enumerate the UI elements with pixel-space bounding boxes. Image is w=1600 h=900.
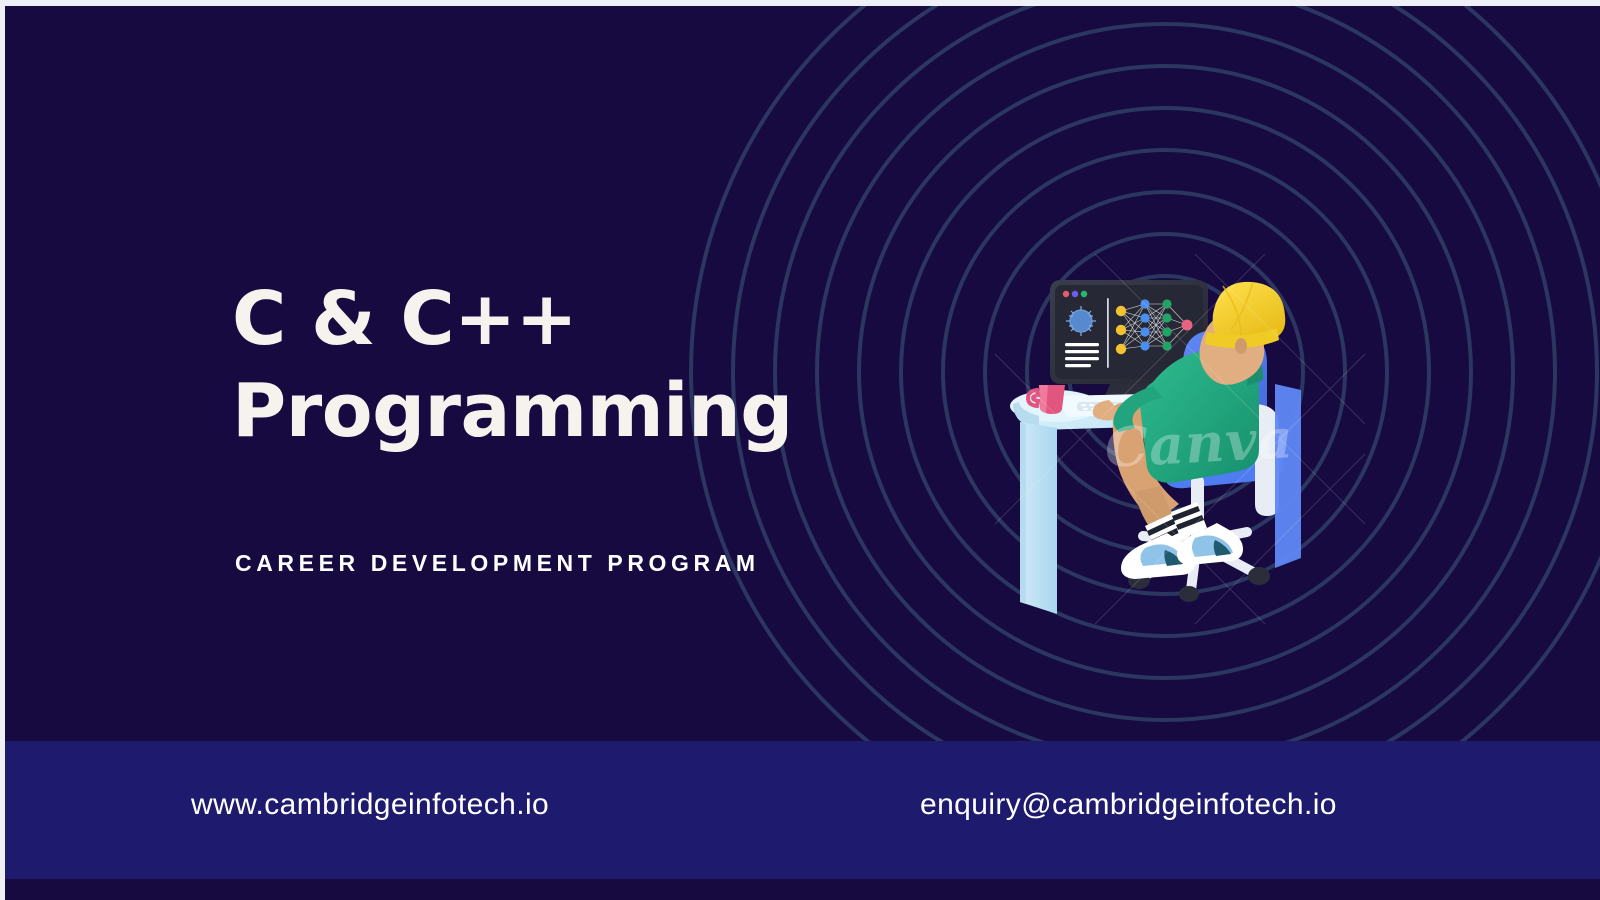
- page-title: C & C++ Programming: [232, 274, 892, 458]
- headline-block: C & C++ Programming: [232, 274, 892, 458]
- subtitle: CAREER DEVELOPMENT PROGRAM: [235, 550, 760, 577]
- footer-bottom-strip: [5, 879, 1600, 900]
- slide-background: C & C++ Programming CAREER DEVELOPMENT P…: [5, 6, 1600, 900]
- headline-line-2: Programming: [232, 366, 892, 458]
- developer-at-desk-illustration: [995, 254, 1365, 624]
- headline-line-1: C & C++: [232, 276, 577, 362]
- email-link[interactable]: enquiry@cambridgeinfotech.io: [920, 788, 1337, 822]
- website-link[interactable]: www.cambridgeinfotech.io: [191, 788, 549, 822]
- slide-canvas: C & C++ Programming CAREER DEVELOPMENT P…: [0, 0, 1600, 900]
